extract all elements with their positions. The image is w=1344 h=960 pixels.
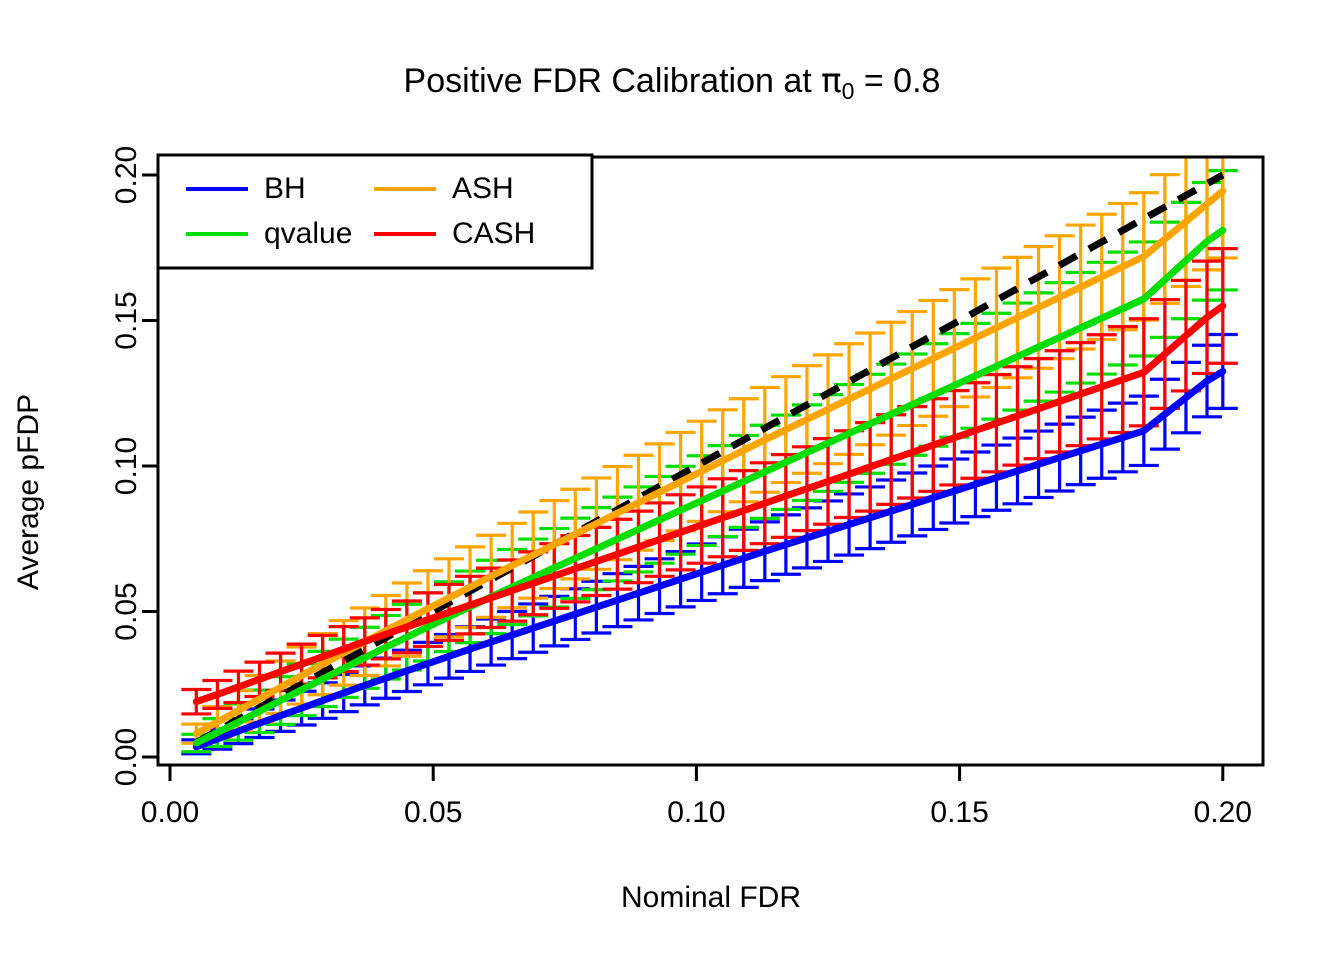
legend-label-qvalue: qvalue [264, 217, 352, 250]
chart-canvas: Positive FDR Calibration at π0 = 0.8 Nom… [0, 0, 1344, 960]
y-tick-label: 0.00 [110, 728, 143, 786]
chart-figure: Positive FDR Calibration at π0 = 0.8 Nom… [0, 0, 1344, 960]
x-tick-label: 0.15 [930, 796, 988, 829]
y-axis-title: Average pFDP [12, 394, 45, 590]
chart-legend[interactable]: BHASHqvalueCASH [158, 155, 592, 268]
page-title: Positive FDR Calibration at π0 = 0.8 [404, 61, 941, 104]
y-tick-label: 0.05 [110, 582, 143, 640]
x-tick-label: 0.20 [1194, 796, 1252, 829]
legend-label-bh: BH [264, 172, 306, 205]
x-axis-title: Nominal FDR [621, 881, 801, 914]
x-tick-label: 0.00 [141, 796, 199, 829]
y-tick-label: 0.20 [110, 146, 143, 204]
legend-label-cash: CASH [452, 217, 535, 250]
x-tick-label: 0.10 [667, 796, 725, 829]
legend-box [158, 155, 592, 268]
x-tick-label: 0.05 [404, 796, 462, 829]
legend-label-ash: ASH [452, 172, 514, 205]
y-tick-label: 0.15 [110, 291, 143, 349]
y-tick-label: 0.10 [110, 437, 143, 495]
